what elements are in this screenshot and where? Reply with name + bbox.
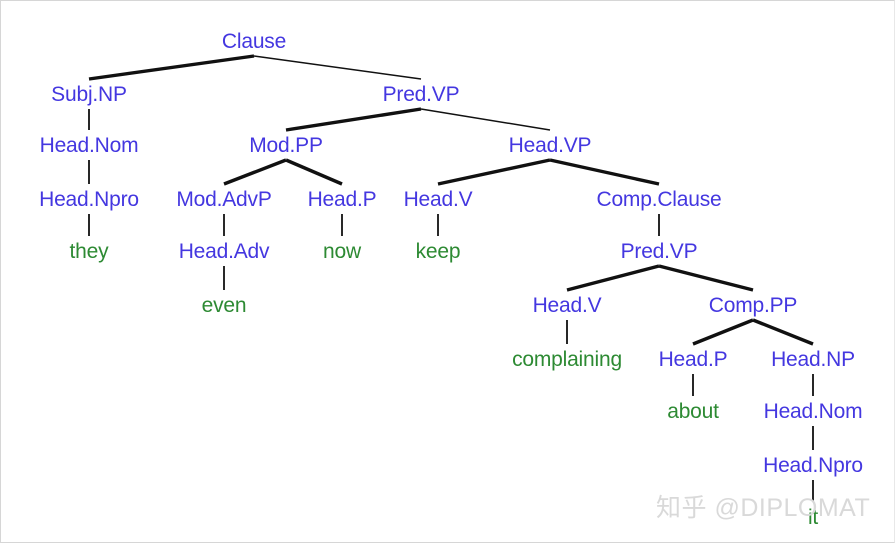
category-node-head-npro: Head.Npro [763,455,863,476]
tree-branch [659,266,753,290]
terminal-word-now: now [323,241,361,262]
category-node-head-v: Head.V [404,189,473,210]
category-node-head-np: Head.NP [771,349,855,370]
category-node-head-vp: Head.VP [509,135,592,156]
category-node-pred-vp: Pred.VP [621,241,698,262]
category-node-head-nom: Head.Nom [764,401,863,422]
category-node-comp-pp: Comp.PP [709,295,797,316]
terminal-word-it: it [808,507,818,528]
terminal-word-complaining: complaining [512,349,622,370]
category-node-clause: Clause [222,31,286,52]
category-node-head-p: Head.P [308,189,377,210]
tree-branch [567,266,659,290]
syntax-tree-diagram: ClauseSubj.NPPred.VPHead.NomMod.PPHead.V… [0,0,895,543]
category-node-head-npro: Head.Npro [39,189,139,210]
tree-branch [438,160,550,184]
tree-branch [254,56,421,79]
category-node-comp-clause: Comp.Clause [596,189,721,210]
tree-branch [89,56,254,79]
category-node-head-v: Head.V [533,295,602,316]
terminal-word-even: even [202,295,247,316]
category-node-head-adv: Head.Adv [179,241,270,262]
category-node-pred-vp: Pred.VP [383,84,460,105]
tree-branch [286,109,421,130]
tree-branch [693,320,753,344]
category-node-head-nom: Head.Nom [40,135,139,156]
tree-branch [550,160,659,184]
tree-branch [286,160,342,184]
tree-branch [421,109,550,130]
tree-branch [224,160,286,184]
category-node-mod-pp: Mod.PP [249,135,323,156]
category-node-mod-advp: Mod.AdvP [176,189,271,210]
category-node-subj-np: Subj.NP [51,84,127,105]
terminal-word-they: they [70,241,109,262]
category-node-head-p: Head.P [659,349,728,370]
terminal-word-keep: keep [416,241,461,262]
terminal-word-about: about [667,401,719,422]
tree-branch [753,320,813,344]
